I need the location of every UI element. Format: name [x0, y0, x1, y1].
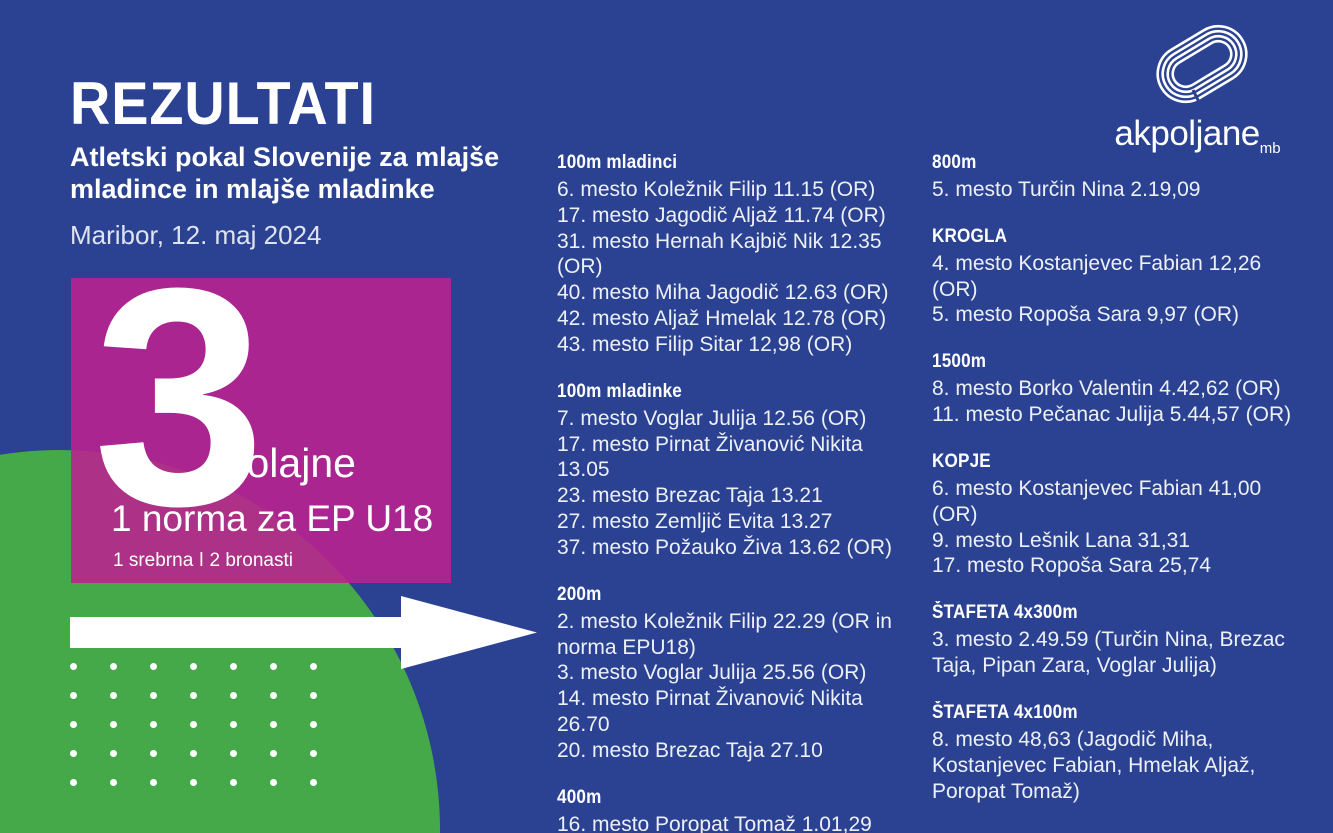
- event-section: 200m2. mesto Koležnik Filip 22.29 (OR in…: [557, 584, 917, 764]
- result-entry: 40. mesto Miha Jagodič 12.63 (OR): [557, 280, 917, 306]
- dot: [230, 779, 237, 786]
- dot: [190, 779, 197, 786]
- event-section-title: ŠTAFETA 4x300m: [932, 602, 1265, 624]
- result-entry: 3. mesto Voglar Julija 25.56 (OR): [557, 660, 917, 686]
- event-section-title: KROGLA: [932, 226, 1265, 248]
- dot: [190, 721, 197, 728]
- medal-count-label: kolajne: [226, 440, 356, 487]
- result-entry: 8. mesto Borko Valentin 4.42,62 (OR): [932, 376, 1302, 402]
- results-column-left: 100m mladinci6. mesto Koležnik Filip 11.…: [557, 152, 917, 833]
- dot: [190, 750, 197, 757]
- dot: [70, 692, 77, 699]
- result-entry: 8. mesto 48,63 (Jagodič Miha, Kostanjeve…: [932, 727, 1302, 804]
- result-entry: 31. mesto Hernah Kajbič Nik 12.35 (OR): [557, 229, 917, 281]
- event-section-title: 1500m: [932, 351, 1265, 373]
- arrow-right-icon: [70, 596, 537, 669]
- result-entry: 27. mesto Zemljič Evita 13.27: [557, 509, 917, 535]
- event-section: 1500m8. mesto Borko Valentin 4.42,62 (OR…: [932, 351, 1302, 428]
- result-entry: 17. mesto Jagodič Aljaž 11.74 (OR): [557, 203, 917, 229]
- results-infographic: REZULTATI Atletski pokal Slovenije za ml…: [0, 0, 1333, 833]
- dot: [110, 721, 117, 728]
- dot: [230, 721, 237, 728]
- result-entry: 5. mesto Turčin Nina 2.19,09: [932, 177, 1302, 203]
- result-entry: 5. mesto Ropoša Sara 9,97 (OR): [932, 302, 1302, 328]
- dot: [150, 692, 157, 699]
- medal-separator: l: [193, 550, 209, 571]
- event-section-title: KOPJE: [932, 451, 1265, 473]
- event-section: 400m16. mesto Poropat Tomaž 1.01,2921. m…: [557, 787, 917, 833]
- norm-text: 1 norma za EP U18: [111, 498, 433, 540]
- dot: [110, 750, 117, 757]
- dot: [230, 692, 237, 699]
- dot: [70, 750, 77, 757]
- result-entry: 9. mesto Lešnik Lana 31,31: [932, 528, 1302, 554]
- result-entry: 2. mesto Koležnik Filip 22.29 (OR in nor…: [557, 609, 917, 661]
- dot: [110, 692, 117, 699]
- event-section-title: 800m: [932, 152, 1265, 174]
- silver-medal-count: 1 srebrna: [113, 550, 193, 571]
- result-entry: 6. mesto Koležnik Filip 11.15 (OR): [557, 177, 917, 203]
- page-title: REZULTATI: [70, 69, 376, 138]
- dot: [150, 779, 157, 786]
- event-place-date: Maribor, 12. maj 2024: [70, 220, 321, 251]
- dot: [110, 779, 117, 786]
- event-section: KOPJE6. mesto Kostanjevec Fabian 41,00 (…: [932, 451, 1302, 579]
- dot: [310, 750, 317, 757]
- bronze-medal-count: 2 bronasti: [210, 550, 293, 571]
- dot: [270, 692, 277, 699]
- result-entry: 6. mesto Kostanjevec Fabian 41,00 (OR): [932, 476, 1302, 528]
- result-entry: 37. mesto Požauko Živa 13.62 (OR): [557, 535, 917, 561]
- result-entry: 14. mesto Pirnat Živanović Nikita 26.70: [557, 686, 917, 738]
- medal-breakdown: 1 srebrnal2 bronasti: [113, 550, 293, 572]
- event-section-title: 100m mladinci: [557, 152, 881, 174]
- event-section: 100m mladinci6. mesto Koležnik Filip 11.…: [557, 152, 917, 358]
- result-entry: 43. mesto Filip Sitar 12,98 (OR): [557, 332, 917, 358]
- result-entry: 17. mesto Ropoša Sara 25,74: [932, 553, 1302, 579]
- result-entry: 4. mesto Kostanjevec Fabian 12,26 (OR): [932, 251, 1302, 303]
- event-section-title: 400m: [557, 787, 881, 809]
- dot-grid-decoration: [70, 663, 350, 808]
- dot: [230, 750, 237, 757]
- result-entry: 11. mesto Pečanac Julija 5.44,57 (OR): [932, 402, 1302, 428]
- event-section: KROGLA4. mesto Kostanjevec Fabian 12,26 …: [932, 226, 1302, 328]
- dot: [270, 750, 277, 757]
- logo-wordmark: akpoljanemb: [1085, 114, 1310, 157]
- result-entry: 20. mesto Brezac Taja 27.10: [557, 738, 917, 764]
- running-track-icon: [1147, 22, 1257, 107]
- dot: [150, 750, 157, 757]
- result-entry: 16. mesto Poropat Tomaž 1.01,29: [557, 812, 917, 833]
- result-entry: 23. mesto Brezac Taja 13.21: [557, 483, 917, 509]
- event-section-title: ŠTAFETA 4x100m: [932, 702, 1265, 724]
- dot: [190, 692, 197, 699]
- result-entry: 17. mesto Pirnat Živanović Nikita 13.05: [557, 432, 917, 484]
- dot: [150, 721, 157, 728]
- dot: [270, 721, 277, 728]
- club-logo: akpoljanemb: [1085, 22, 1310, 147]
- logo-word-text: akpoljane: [1114, 114, 1259, 153]
- event-section-title: 100m mladinke: [557, 381, 881, 403]
- dot: [310, 779, 317, 786]
- event-section: ŠTAFETA 4x300m3. mesto 2.49.59 (Turčin N…: [932, 602, 1302, 679]
- result-entry: 42. mesto Aljaž Hmelak 12.78 (OR): [557, 306, 917, 332]
- event-section: 800m5. mesto Turčin Nina 2.19,09: [932, 152, 1302, 203]
- result-entry: 7. mesto Voglar Julija 12.56 (OR): [557, 406, 917, 432]
- event-section: 100m mladinke7. mesto Voglar Julija 12.5…: [557, 381, 917, 561]
- medal-summary-badge: 3 kolajne 1 norma za EP U18 1 srebrnal2 …: [71, 278, 451, 583]
- page-subtitle: Atletski pokal Slovenije za mlajše mladi…: [70, 142, 540, 206]
- dot: [310, 692, 317, 699]
- results-column-right: 800m5. mesto Turčin Nina 2.19,09KROGLA4.…: [932, 152, 1302, 804]
- dot: [310, 721, 317, 728]
- result-entry: 3. mesto 2.49.59 (Turčin Nina, Brezac Ta…: [932, 627, 1302, 679]
- dot: [70, 721, 77, 728]
- dot: [70, 779, 77, 786]
- event-section-title: 200m: [557, 584, 881, 606]
- dot: [270, 779, 277, 786]
- event-section: ŠTAFETA 4x100m8. mesto 48,63 (Jagodič Mi…: [932, 702, 1302, 804]
